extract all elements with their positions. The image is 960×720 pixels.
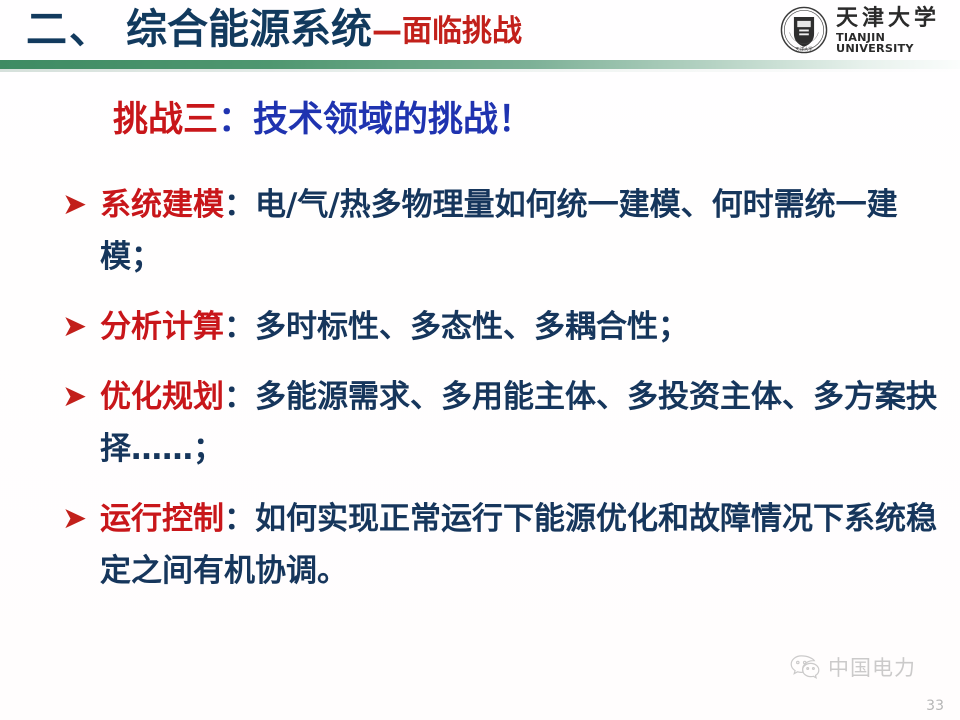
arrowhead-bullet-icon: ➤: [62, 493, 96, 545]
challenge-heading: 挑战三：技术领域的挑战！: [113, 95, 960, 145]
university-name-en: TIANJIN UNIVERSITY: [836, 32, 952, 54]
bullet-label: 分析计算: [100, 309, 224, 345]
page-title-main: 综合能源系统: [126, 5, 372, 53]
wechat-icon: [790, 654, 820, 680]
tianjin-university-seal-icon: 天津大学: [780, 6, 828, 54]
slide-canvas: 二、综合能源系统—面临挑战 天津大学 天津大学 TIANJIN UNIVERSI…: [0, 0, 960, 720]
header-divider-shadow: [0, 69, 960, 72]
slide-header: 二、综合能源系统—面临挑战 天津大学 天津大学 TIANJIN UNIVERSI…: [0, 0, 960, 60]
arrowhead-bullet-icon: ➤: [62, 301, 96, 353]
university-name-cn: 天津大学: [836, 7, 950, 29]
watermark-label: 中国电力: [828, 652, 916, 682]
university-logo-text: 天津大学 TIANJIN UNIVERSITY: [836, 7, 950, 54]
page-title-number: 二、: [26, 5, 112, 53]
bullet-label: 系统建模: [100, 187, 224, 223]
bullet-text: ：多能源需求、多用能主体、多投资主体、多方案抉择……；: [100, 379, 937, 467]
header-divider: [0, 60, 960, 69]
challenge-heading-red: 挑战三: [113, 100, 218, 140]
arrowhead-bullet-icon: ➤: [62, 371, 96, 423]
list-item: ➤ 优化规划：多能源需求、多用能主体、多投资主体、多方案抉择……；: [0, 371, 960, 475]
bullet-label: 运行控制: [100, 501, 224, 537]
page-title: 二、综合能源系统—面临挑战: [26, 3, 522, 60]
list-item: ➤ 系统建模：电/气/热多物理量如何统一建模、何时需统一建模；: [0, 179, 960, 283]
arrowhead-bullet-icon: ➤: [62, 179, 96, 231]
bullet-label: 优化规划: [100, 379, 224, 415]
university-logo: 天津大学 天津大学 TIANJIN UNIVERSITY: [780, 4, 950, 56]
challenge-heading-blue: ：技术领域的挑战！: [218, 100, 533, 140]
bullet-text: ：多时标性、多态性、多耦合性；: [224, 309, 689, 345]
list-item: ➤ 分析计算：多时标性、多态性、多耦合性；: [0, 301, 960, 353]
page-number: 33: [926, 698, 944, 714]
page-title-subtitle: —面临挑战: [372, 14, 522, 49]
bullet-list: ➤ 系统建模：电/气/热多物理量如何统一建模、何时需统一建模； ➤ 分析计算：多…: [0, 179, 960, 597]
slide-content: 挑战三：技术领域的挑战！ ➤ 系统建模：电/气/热多物理量如何统一建模、何时需统…: [0, 95, 960, 597]
list-item: ➤ 运行控制：如何实现正常运行下能源优化和故障情况下系统稳定之间有机协调。: [0, 493, 960, 597]
watermark: 中国电力: [790, 652, 916, 682]
bullet-text: ：如何实现正常运行下能源优化和故障情况下系统稳定之间有机协调。: [100, 501, 937, 589]
